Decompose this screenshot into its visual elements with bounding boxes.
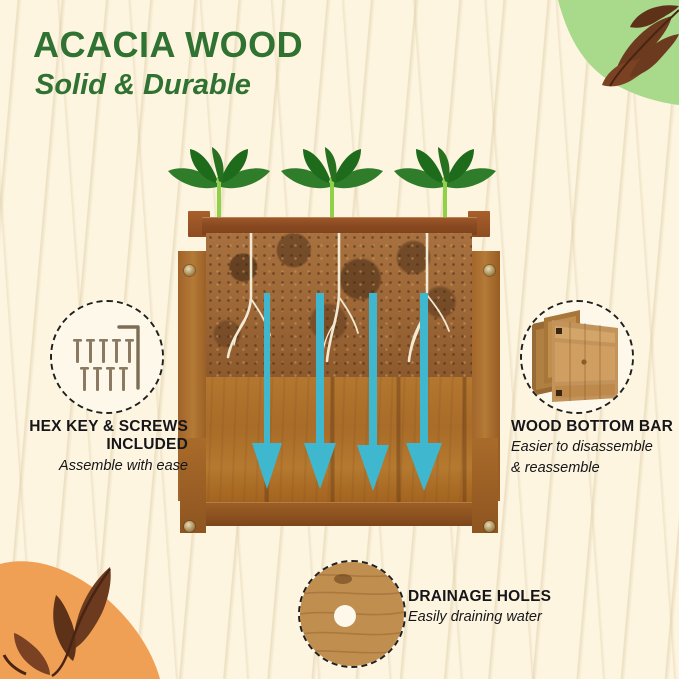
infographic-canvas: ACACIA WOOD Solid & Durable [0, 0, 679, 679]
water-arrow-icon [252, 293, 282, 489]
feature-title: WOOD BOTTOM BAR [511, 418, 679, 436]
water-arrow-icon [357, 293, 389, 491]
feature-hex-key-screws: HEX KEY & SCREWS INCLUDED Assemble with … [8, 418, 188, 475]
wood-bottom-bar-badge [520, 300, 634, 414]
seedling-icon [277, 143, 387, 223]
screw-icon [484, 521, 495, 532]
screw-icon [184, 521, 195, 532]
corner-bottom-left-decoration [0, 529, 200, 679]
feature-description-line2: & reassemble [511, 460, 679, 477]
planter-box-illustration [172, 143, 507, 548]
screw-icon [184, 265, 195, 276]
feature-title: DRAINAGE HOLES [408, 588, 638, 606]
water-flow-arrows [206, 293, 472, 518]
feature-description: Assemble with ease [8, 458, 188, 475]
feature-description: Easily draining water [408, 609, 638, 626]
seedlings-group [172, 143, 507, 223]
brown-leaf-branch-icon [602, 5, 679, 86]
feature-title-line2: INCLUDED [8, 436, 188, 454]
feature-drainage-holes: DRAINAGE HOLES Easily draining water [408, 588, 638, 627]
feature-title-line1: HEX KEY & SCREWS [8, 418, 188, 436]
drainage-holes-badge [298, 560, 406, 668]
corner-top-right-decoration [504, 0, 679, 120]
water-arrow-icon [304, 293, 336, 489]
orange-blob-shape [0, 561, 160, 679]
page-title: ACACIA WOOD [33, 26, 303, 64]
feature-wood-bottom-bar: WOOD BOTTOM BAR Easier to disassemble & … [511, 418, 679, 477]
drainage-hole-disc-icon [300, 562, 404, 666]
page-title-block: ACACIA WOOD Solid & Durable [33, 26, 303, 102]
brown-leaf-branch-icon [4, 567, 111, 676]
seedling-icon [164, 143, 274, 223]
feature-description-line1: Easier to disassemble [511, 439, 679, 456]
wood-panel-icon [522, 302, 632, 412]
planter-right-leg [472, 438, 498, 533]
screws-and-hex-key-icon [52, 302, 162, 412]
screw-icon [484, 265, 495, 276]
green-blob-shape [558, 0, 679, 105]
hex-key-screws-badge [50, 300, 164, 414]
water-arrow-icon [406, 293, 442, 491]
page-subtitle: Solid & Durable [35, 70, 303, 102]
